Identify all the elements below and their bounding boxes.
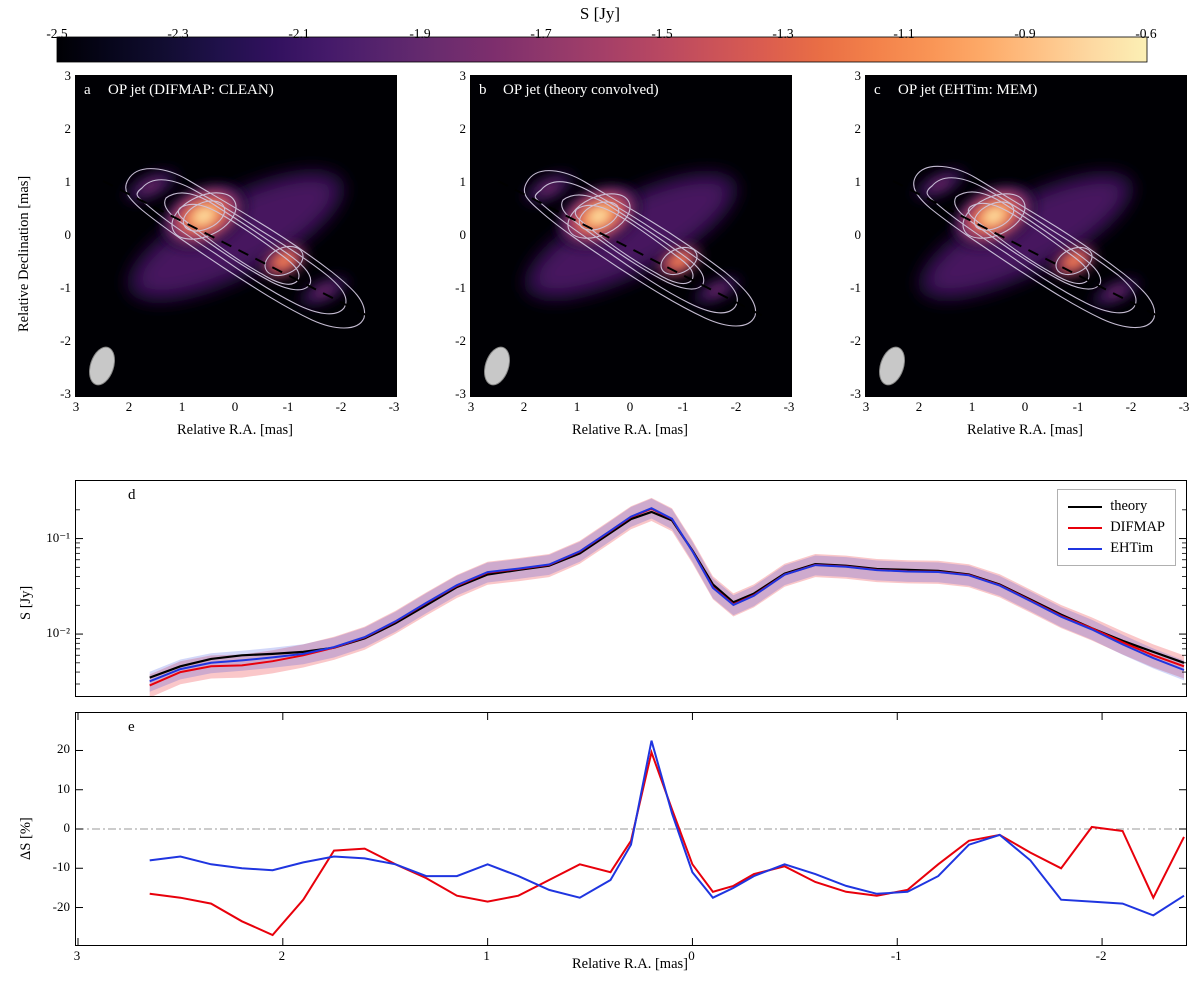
legend-label-theory: theory xyxy=(1110,498,1147,515)
panel-e-xlabel: Relative R.A. [mas] xyxy=(75,956,1185,973)
image-ytick: -2 xyxy=(440,333,466,349)
image-xtick: -2 xyxy=(731,399,742,415)
image-xtick: 2 xyxy=(521,399,528,415)
colorbar-tick: -1.7 xyxy=(530,26,551,42)
panel-d-legend: theory DIFMAP EHTim xyxy=(1057,489,1176,566)
panel-a-image xyxy=(76,76,396,396)
image-ytick: -3 xyxy=(45,386,71,402)
image-ytick: 0 xyxy=(835,227,861,243)
ra-axis-label-a: Relative R.A. [mas] xyxy=(75,422,395,439)
panel-e-letter: e xyxy=(128,719,135,736)
colorbar-tick-labels: -2.5 -2.3 -2.1 -1.9 -1.7 -1.5 -1.3 -1.1 … xyxy=(57,26,1147,44)
image-xtick: 3 xyxy=(863,399,870,415)
image-xtick: 2 xyxy=(126,399,133,415)
ra-axis-label-b: Relative R.A. [mas] xyxy=(470,422,790,439)
image-xtick: 1 xyxy=(574,399,581,415)
image-ytick: 2 xyxy=(440,121,466,137)
panel-b-title: OP jet (theory convolved) xyxy=(503,82,659,99)
panel-d-plot xyxy=(76,481,1186,696)
panel-d-ytick: 10⁻¹ xyxy=(20,530,70,546)
legend-item-theory: theory xyxy=(1068,496,1165,517)
panel-a-title: OP jet (DIFMAP: CLEAN) xyxy=(108,82,274,99)
image-ytick: -1 xyxy=(45,280,71,296)
colorbar-tick: -0.6 xyxy=(1135,26,1156,42)
image-ytick: 2 xyxy=(45,121,71,137)
image-ytick: -1 xyxy=(835,280,861,296)
legend-label-difmap: DIFMAP xyxy=(1110,519,1165,536)
colorbar-tick: -1.1 xyxy=(893,26,914,42)
image-ytick: -3 xyxy=(440,386,466,402)
image-xtick: -3 xyxy=(1179,399,1190,415)
image-panel-c: c OP jet (EHTim: MEM) xyxy=(865,75,1187,397)
image-ytick: 1 xyxy=(440,174,466,190)
image-xtick: 2 xyxy=(916,399,923,415)
figure: S [Jy] xyxy=(0,0,1200,994)
declination-axis-label: Relative Declination [mas] xyxy=(16,176,33,332)
panel-e-ytick: -20 xyxy=(20,899,70,915)
panel-e-ytick: 0 xyxy=(20,820,70,836)
panel-d-letter: d xyxy=(128,487,136,504)
colorbar-tick: -2.3 xyxy=(167,26,188,42)
image-ytick: 3 xyxy=(440,68,466,84)
image-ytick: 3 xyxy=(45,68,71,84)
image-xtick: 3 xyxy=(73,399,80,415)
image-xtick: -1 xyxy=(678,399,689,415)
panel-e-ytick: -10 xyxy=(20,859,70,875)
panel-b-letter: b xyxy=(479,82,487,99)
panel-d-ylabel: S [Jy] xyxy=(18,586,35,620)
panel-d-ytick: 10⁻² xyxy=(20,625,70,641)
panel-e-ytick: 10 xyxy=(20,781,70,797)
panel-c-title: OP jet (EHTim: MEM) xyxy=(898,82,1037,99)
image-xtick: -3 xyxy=(389,399,400,415)
panel-e-ytick: 20 xyxy=(20,741,70,757)
image-ytick: -1 xyxy=(440,280,466,296)
image-ytick: 0 xyxy=(45,227,71,243)
image-ytick: 1 xyxy=(835,174,861,190)
panel-e-plot xyxy=(76,713,1186,945)
residual-panel-e: e xyxy=(75,712,1187,946)
ra-axis-label-c: Relative R.A. [mas] xyxy=(865,422,1185,439)
image-xtick: 0 xyxy=(1022,399,1029,415)
image-ytick: 3 xyxy=(835,68,861,84)
image-ytick: 0 xyxy=(440,227,466,243)
colorbar-tick: -1.3 xyxy=(772,26,793,42)
panel-b-image xyxy=(471,76,791,396)
image-xtick: -3 xyxy=(784,399,795,415)
image-ytick: 1 xyxy=(45,174,71,190)
panel-c-letter: c xyxy=(874,82,881,99)
image-ytick: -3 xyxy=(835,386,861,402)
colorbar-tick: -1.5 xyxy=(651,26,672,42)
image-panel-b: b OP jet (theory convolved) xyxy=(470,75,792,397)
colorbar-tick: -0.9 xyxy=(1014,26,1035,42)
colorbar-tick: -2.1 xyxy=(288,26,309,42)
legend-label-ehtim: EHTim xyxy=(1110,540,1153,557)
colorbar-tick: -1.9 xyxy=(409,26,430,42)
image-xtick: 1 xyxy=(969,399,976,415)
image-ytick: -2 xyxy=(45,333,71,349)
legend-item-difmap: DIFMAP xyxy=(1068,517,1165,538)
image-xtick: -1 xyxy=(1073,399,1084,415)
image-xtick: -2 xyxy=(336,399,347,415)
legend-item-ehtim: EHTim xyxy=(1068,538,1165,559)
image-xtick: 0 xyxy=(627,399,634,415)
image-panel-a: a OP jet (DIFMAP: CLEAN) xyxy=(75,75,397,397)
profile-panel-d: d theory DIFMAP EHTim xyxy=(75,480,1187,697)
colorbar-tick: -2.5 xyxy=(46,26,67,42)
image-xtick: 0 xyxy=(232,399,239,415)
panel-a-letter: a xyxy=(84,82,91,99)
image-xtick: 3 xyxy=(468,399,475,415)
image-xtick: -2 xyxy=(1126,399,1137,415)
panel-c-image xyxy=(866,76,1186,396)
image-ytick: 2 xyxy=(835,121,861,137)
image-xtick: -1 xyxy=(283,399,294,415)
image-xtick: 1 xyxy=(179,399,186,415)
image-ytick: -2 xyxy=(835,333,861,349)
